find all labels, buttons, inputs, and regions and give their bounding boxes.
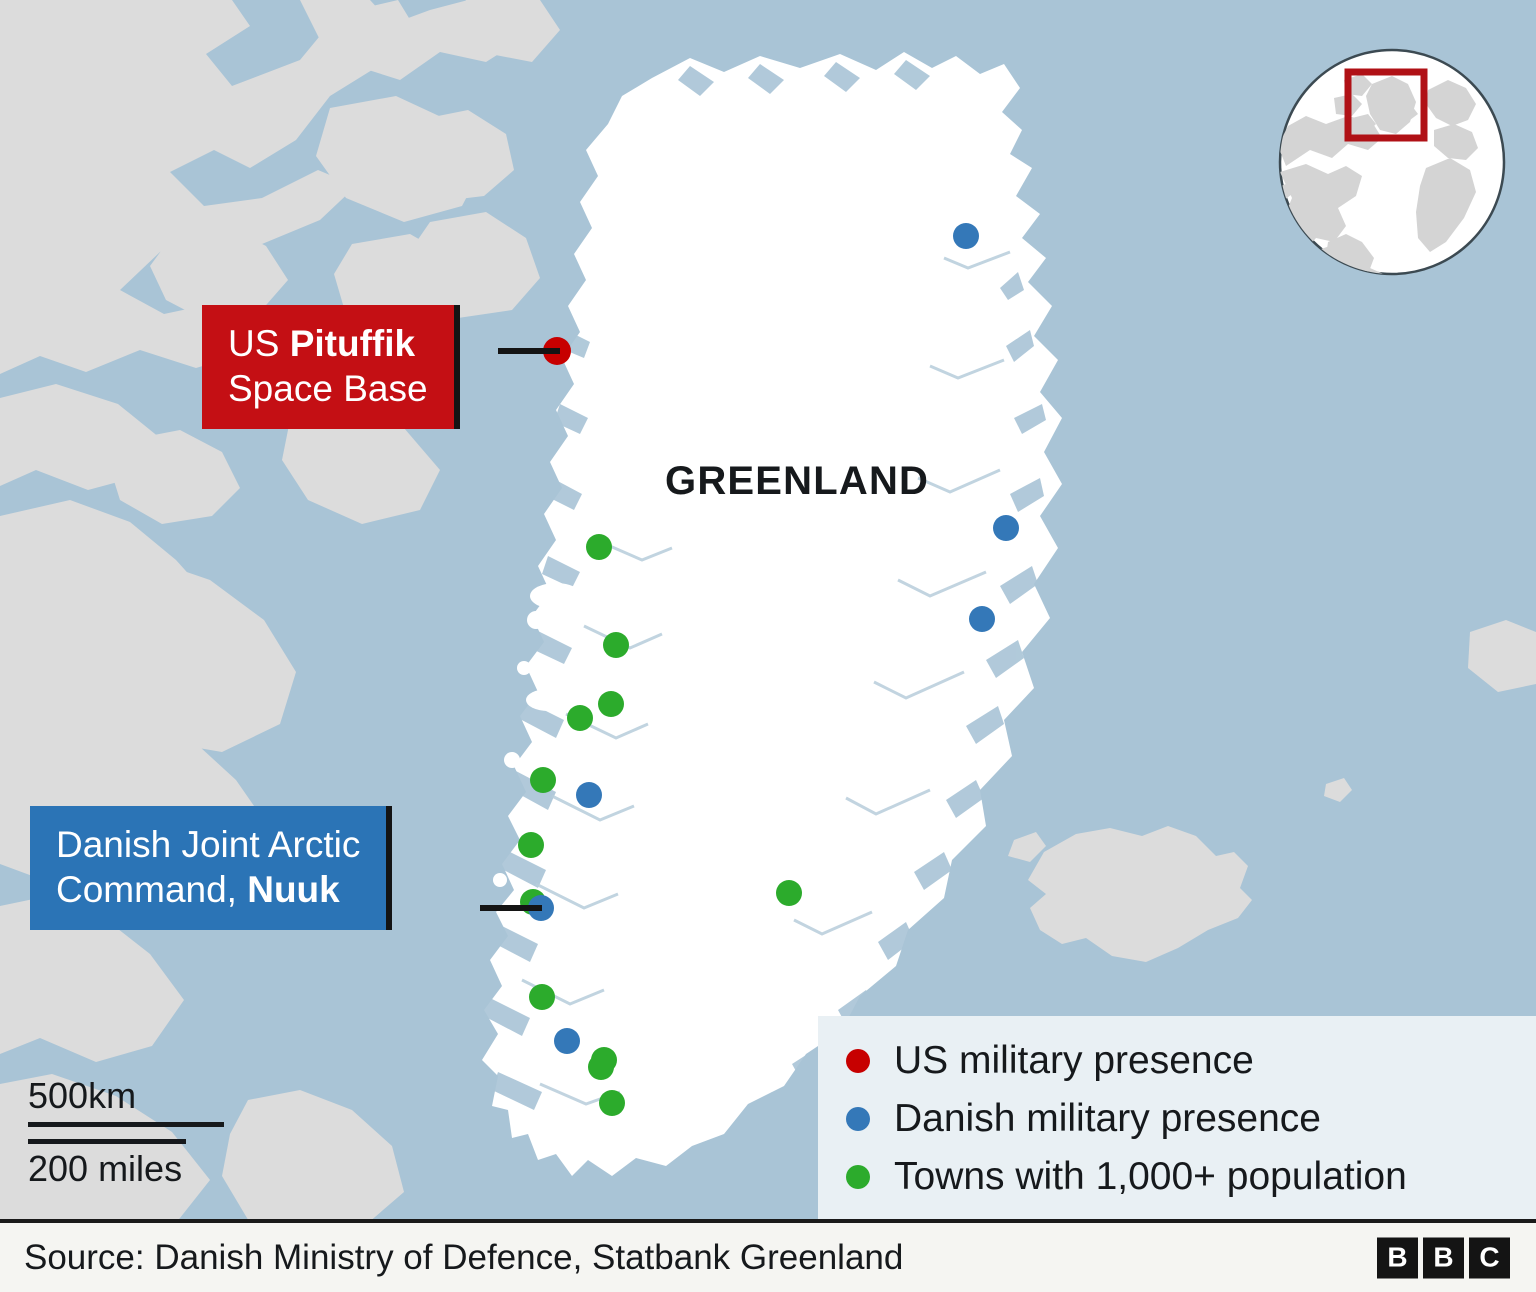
legend: US military presence Danish military pre… xyxy=(818,1016,1536,1223)
footer: Source: Danish Ministry of Defence, Stat… xyxy=(0,1223,1536,1292)
infographic-root: GREENLAND US Pituffik Space Base Dan xyxy=(0,0,1536,1292)
marker-danish-military[interactable] xyxy=(969,606,995,632)
bbc-logo-letter-b2: B xyxy=(1423,1237,1464,1278)
page-title: GREENLAND xyxy=(665,459,929,504)
marker-town[interactable] xyxy=(588,1054,614,1080)
scale-bar-km-label: 500km xyxy=(28,1077,224,1116)
legend-item-us-military: US military presence xyxy=(846,1032,1536,1090)
marker-town[interactable] xyxy=(776,880,802,906)
callout-nuuk-line1: Danish Joint Arctic xyxy=(56,822,360,867)
globe-locator-inset xyxy=(1276,46,1508,278)
legend-swatch-blue-icon xyxy=(846,1107,870,1131)
scale-bar-km-rule xyxy=(28,1122,224,1127)
bbc-logo: B B C xyxy=(1377,1237,1510,1278)
source-credit: Source: Danish Ministry of Defence, Stat… xyxy=(24,1238,903,1278)
marker-town[interactable] xyxy=(586,534,612,560)
callout-nuuk[interactable]: Danish Joint Arctic Command, Nuuk xyxy=(30,806,392,930)
bbc-logo-letter-b1: B xyxy=(1377,1237,1418,1278)
legend-label-us-military: US military presence xyxy=(894,1039,1254,1083)
legend-swatch-green-icon xyxy=(846,1165,870,1189)
marker-town[interactable] xyxy=(518,832,544,858)
map-canvas: GREENLAND US Pituffik Space Base Dan xyxy=(0,0,1536,1223)
callout-pituffik-line1: US Pituffik xyxy=(228,321,428,366)
callout-pituffik[interactable]: US Pituffik Space Base xyxy=(202,305,460,429)
legend-label-danish-military: Danish military presence xyxy=(894,1097,1321,1141)
marker-town[interactable] xyxy=(599,1090,625,1116)
leader-line-nuuk xyxy=(480,905,542,911)
scale-bar-miles-rule xyxy=(28,1139,186,1144)
marker-town[interactable] xyxy=(603,632,629,658)
bbc-logo-letter-c: C xyxy=(1469,1237,1510,1278)
marker-town[interactable] xyxy=(529,984,555,1010)
scale-bar-miles-label: 200 miles xyxy=(28,1150,224,1189)
marker-town[interactable] xyxy=(598,691,624,717)
marker-town[interactable] xyxy=(567,705,593,731)
marker-danish-military[interactable] xyxy=(993,515,1019,541)
marker-town[interactable] xyxy=(530,767,556,793)
scale-bar: 500km 200 miles xyxy=(28,1077,224,1189)
legend-swatch-red-icon xyxy=(846,1049,870,1073)
marker-danish-military[interactable] xyxy=(554,1028,580,1054)
marker-danish-military[interactable] xyxy=(576,782,602,808)
leader-line-pituffik xyxy=(498,348,560,354)
legend-item-danish-military: Danish military presence xyxy=(846,1090,1536,1148)
legend-label-towns: Towns with 1,000+ population xyxy=(894,1155,1407,1199)
callout-pituffik-line2: Space Base xyxy=(228,366,428,411)
callout-nuuk-line2: Command, Nuuk xyxy=(56,867,360,912)
legend-item-towns: Towns with 1,000+ population xyxy=(846,1148,1536,1206)
marker-danish-military[interactable] xyxy=(953,223,979,249)
